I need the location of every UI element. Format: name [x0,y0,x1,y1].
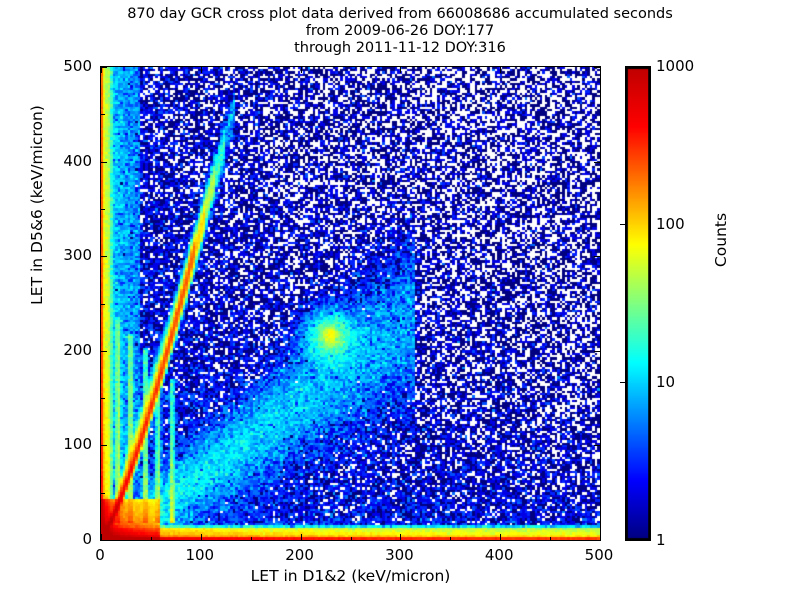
x-tick [600,534,601,540]
y-tick-right [594,445,600,446]
density-scatter-canvas [101,67,600,540]
colorbar-title: Counts [712,120,730,360]
y-minor-tick [101,209,105,210]
y-tick [101,256,107,257]
x-tick-label: 0 [65,546,135,564]
x-tick-label: 300 [364,546,434,564]
x-axis-label: LET in D1&2 (keV/micron) [100,567,601,585]
y-tick [101,67,107,68]
colorbar-tick-label: 10 [656,373,675,391]
colorbar-tick-label: 1 [656,531,666,549]
colorbar [625,66,651,541]
x-tick [400,534,401,540]
x-minor-tick [550,537,551,541]
colorbar-gradient [625,66,651,541]
y-tick [101,351,107,352]
x-tick-top [201,67,202,73]
y-tick [101,540,107,541]
y-tick-right [594,162,600,163]
x-tick-label: 100 [165,546,235,564]
x-minor-tick [351,537,352,541]
y-tick-right [594,351,600,352]
y-tick-right [594,540,600,541]
x-tick-top [500,67,501,73]
x-tick-label: 500 [564,546,634,564]
x-tick [500,534,501,540]
x-tick [201,534,202,540]
x-tick-top [600,67,601,73]
y-tick [101,162,107,163]
y-minor-tick [101,304,105,305]
y-minor-tick [101,493,105,494]
y-tick-label: 0 [32,530,92,548]
y-tick-right [594,67,600,68]
title-line-2: from 2009-06-26 DOY:177 [0,23,800,40]
colorbar-tick-label: 100 [656,215,685,233]
colorbar-tick [620,224,625,225]
x-minor-tick [251,537,252,541]
x-tick-top [301,67,302,73]
x-tick [301,534,302,540]
title-line-1: 870 day GCR cross plot data derived from… [0,6,800,23]
y-tick-right [594,256,600,257]
x-minor-tick [450,537,451,541]
colorbar-tick [620,382,625,383]
chart-title: 870 day GCR cross plot data derived from… [0,6,800,57]
title-line-3: through 2011-11-12 DOY:316 [0,40,800,57]
x-minor-tick [151,537,152,541]
x-tick-label: 200 [265,546,335,564]
y-minor-tick [101,398,105,399]
plot-area [100,66,601,541]
figure-canvas: 870 day GCR cross plot data derived from… [0,0,800,600]
y-tick [101,445,107,446]
x-tick-top [400,67,401,73]
colorbar-tick-label: 1000 [656,57,694,75]
y-tick-label: 100 [32,435,92,453]
y-minor-tick [101,114,105,115]
x-tick-label: 400 [464,546,534,564]
y-axis-label: LET in D5&6 (keV/micron) [28,0,46,415]
